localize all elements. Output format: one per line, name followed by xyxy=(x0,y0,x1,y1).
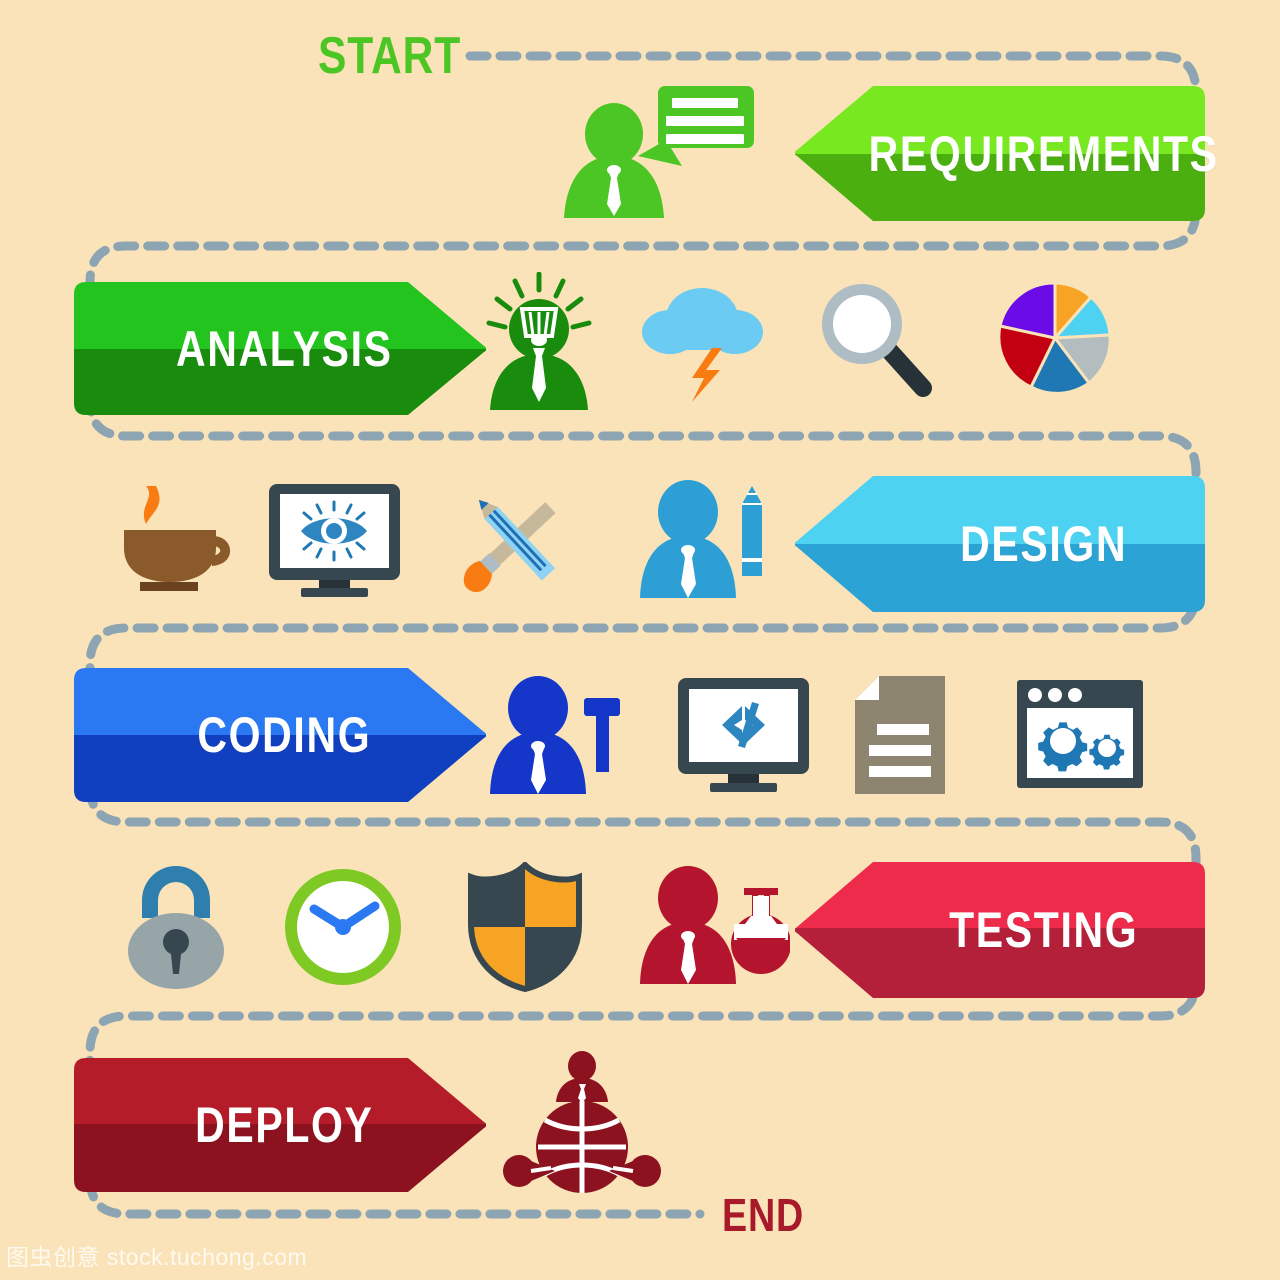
lightbulb-person-icon xyxy=(484,272,594,412)
global-deploy-icon xyxy=(497,1050,667,1195)
banner-deploy[interactable]: DEPLOY xyxy=(74,1058,486,1192)
monitor-code-icon xyxy=(676,676,811,794)
coffee-cup-icon xyxy=(108,478,243,593)
monitor-eye-icon xyxy=(267,482,402,597)
designer-person-icon xyxy=(640,480,770,600)
padlock-icon xyxy=(120,864,232,989)
banner-testing[interactable]: TESTING xyxy=(795,862,1205,998)
clock-icon xyxy=(280,864,406,990)
pencil-brush-icon xyxy=(450,480,580,600)
cloud-lightning-icon xyxy=(640,278,765,403)
end-label: END xyxy=(722,1188,804,1242)
banner-analysis[interactable]: ANALYSIS xyxy=(74,282,486,415)
banner-design[interactable]: DESIGN xyxy=(795,476,1205,612)
shield-icon xyxy=(466,862,584,992)
infographic-canvas: START END xyxy=(0,0,1280,1280)
watermark: 图虫创意 stock.tuchong.com xyxy=(6,1238,307,1272)
tester-flask-icon xyxy=(640,866,790,986)
magnifier-icon xyxy=(815,278,940,403)
banner-coding[interactable]: CODING xyxy=(74,668,486,802)
pie-chart-icon xyxy=(995,278,1115,398)
banner-requirements[interactable]: REQUIREMENTS xyxy=(795,86,1205,221)
browser-gears-icon xyxy=(1015,678,1145,790)
developer-person-icon xyxy=(490,676,620,796)
start-label: START xyxy=(318,26,461,86)
person-speech-bubble-icon xyxy=(560,82,760,222)
document-icon xyxy=(855,676,947,796)
